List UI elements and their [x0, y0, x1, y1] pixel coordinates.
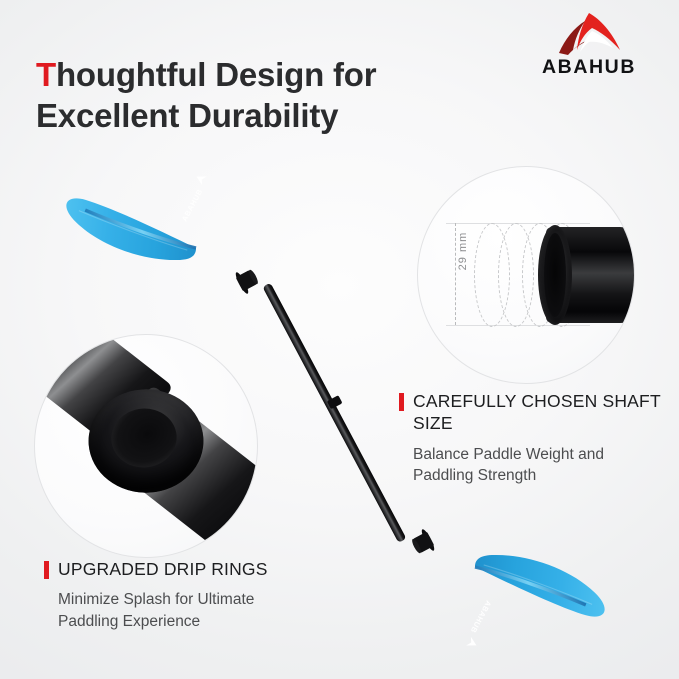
shaft-dimension-label: 29 mm [457, 221, 469, 281]
dimension-leader-line [455, 223, 456, 325]
infographic-page: ABAHUB Thoughtful Design for Excellent D… [0, 0, 679, 679]
callout-subtitle-line2: Paddling Strength [413, 465, 661, 486]
blade-logo-upper: ABAHUB [175, 172, 211, 223]
callout-heading-row: CAREFULLY CHOSEN SHAFT SIZE [399, 390, 661, 435]
callout-subtitle-line1: Minimize Splash for Ultimate [58, 589, 344, 610]
callout-title: CAREFULLY CHOSEN SHAFT SIZE [413, 390, 661, 435]
paddle-blade-lower [469, 511, 611, 662]
accent-bar-icon [399, 393, 404, 411]
callout-subtitle-line1: Balance Paddle Weight and [413, 444, 661, 465]
accent-bar-icon [44, 561, 49, 579]
callout-upgraded-drip-rings: UPGRADED DRIP RINGS Minimize Splash for … [44, 558, 344, 632]
drip-ring-lower [409, 528, 437, 558]
paddle-blade-upper [60, 153, 202, 304]
drip-ring-inset [34, 334, 258, 558]
svg-text:ABAHUB: ABAHUB [469, 599, 494, 635]
paddle-shaft [262, 283, 406, 543]
callout-heading-row: UPGRADED DRIP RINGS [44, 558, 344, 580]
callout-carefully-chosen-shaft-size: CAREFULLY CHOSEN SHAFT SIZE Balance Padd… [399, 390, 661, 487]
callout-subtitle-line2: Paddling Experience [58, 611, 344, 632]
drip-ring-upper [234, 265, 262, 295]
blade-logo-lower: ABAHUB [462, 599, 498, 650]
callout-title: UPGRADED DRIP RINGS [58, 558, 268, 580]
inset-tube-bore [544, 233, 566, 317]
shaft-size-inset: 29 mm [417, 166, 635, 384]
svg-text:ABAHUB: ABAHUB [180, 187, 205, 223]
